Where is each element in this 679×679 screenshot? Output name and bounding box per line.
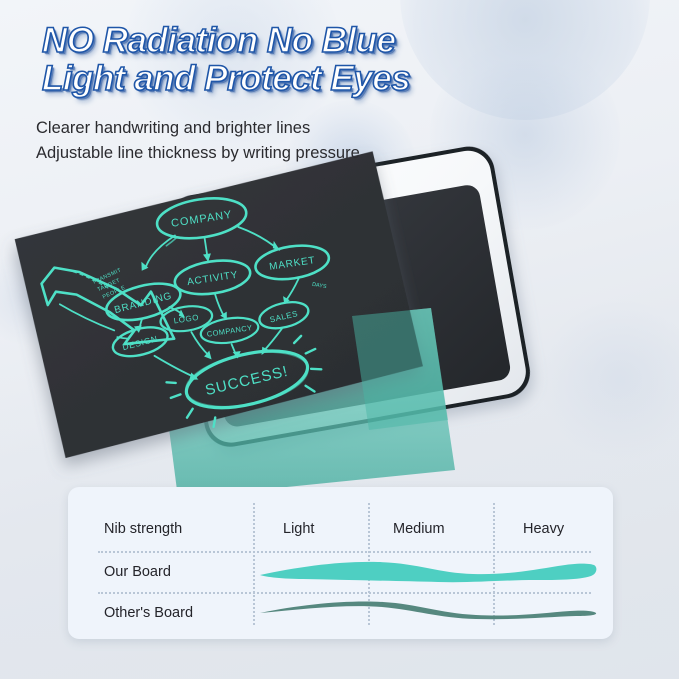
row-label-others-board: Other's Board: [104, 605, 193, 621]
product-illustration: COMPANY BRANDING TRANSMIT TARGET: [0, 140, 679, 490]
column-divider: [253, 503, 255, 625]
our-board-ink: [260, 562, 596, 582]
our-board-stroke-svg: [258, 549, 598, 591]
tablet-scene-svg: COMPANY BRANDING TRANSMIT TARGET: [0, 140, 679, 490]
column-header-medium: Medium: [393, 521, 445, 537]
headline: NO Radiation No Blue Light and Protect E…: [42, 22, 410, 98]
row-label-our-board: Our Board: [104, 564, 171, 580]
column-header-heavy: Heavy: [523, 521, 564, 537]
nib-strength-comparison-card: Nib strength Light Medium Heavy Our Boar…: [68, 487, 613, 639]
subheadline: Clearer handwriting and brighter lines A…: [36, 116, 360, 166]
teal-overlay-highlight: [352, 308, 448, 430]
others-board-stroke: [258, 591, 598, 633]
others-board-stroke-svg: [258, 591, 598, 633]
others-board-ink: [260, 601, 596, 619]
column-header-light: Light: [283, 521, 314, 537]
our-board-stroke: [258, 549, 598, 591]
column-header-nib-strength: Nib strength: [104, 521, 182, 537]
comparison-table: Nib strength Light Medium Heavy Our Boar…: [68, 487, 613, 639]
